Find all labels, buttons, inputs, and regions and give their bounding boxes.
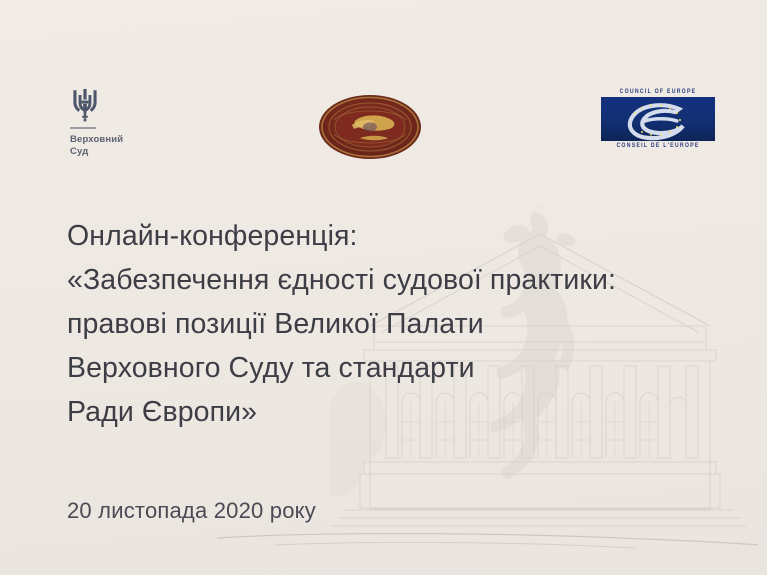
- background-sweep-line: [215, 531, 760, 553]
- coe-caption-top: COUNCIL OF EUROPE: [601, 87, 715, 96]
- title-line-4: Верховного Суду та стандарти: [67, 346, 727, 390]
- coe-flag-icon: [601, 97, 715, 141]
- title-line-3: правові позиції Великої Палати: [67, 302, 727, 346]
- conference-title: Онлайн-конференція: «Забезпечення єдност…: [67, 214, 727, 434]
- logo-row: Верховний Суд: [0, 0, 767, 180]
- conference-date: 20 листопада 2020 року: [67, 497, 316, 525]
- supreme-court-logo: Верховний Суд: [68, 88, 188, 158]
- conference-poster: Верховний Суд: [0, 0, 767, 575]
- title-line-1: Онлайн-конференція:: [67, 214, 727, 258]
- council-of-europe-logo: COUNCIL OF EUROPE: [601, 88, 715, 150]
- ukrainian-trident-icon: [70, 88, 100, 122]
- coe-caption-bottom: CONSEIL DE L'EUROPE: [601, 141, 715, 150]
- title-line-2: «Забезпечення єдності судової практики:: [67, 258, 727, 302]
- supreme-court-label-line2: Суд: [70, 146, 188, 158]
- logo-divider-rule: [70, 127, 96, 129]
- title-line-5: Ради Європи»: [67, 390, 727, 434]
- court-seal-icon: [318, 94, 422, 160]
- supreme-court-label-line1: Верховний: [70, 134, 188, 146]
